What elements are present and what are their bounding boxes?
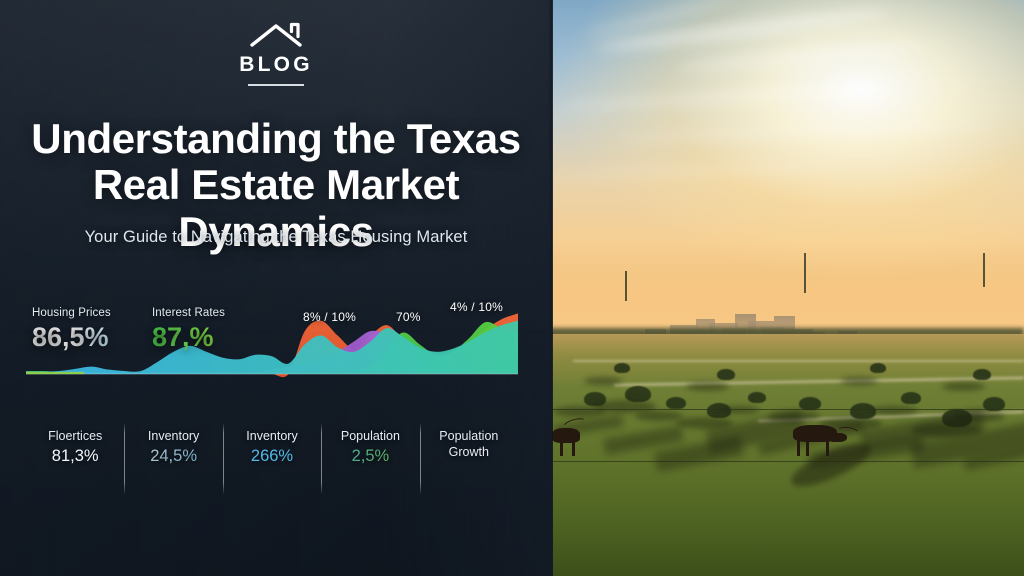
longhorn-cow-leg xyxy=(806,440,809,456)
tree-shadow xyxy=(870,406,918,416)
tree-shadow xyxy=(584,377,622,385)
stat-item: Floertices 81,3% xyxy=(26,425,124,510)
tree xyxy=(666,397,686,409)
stat-label: Inventory xyxy=(225,429,319,445)
chart-annotation: 4% / 10% xyxy=(450,300,503,314)
tree xyxy=(870,363,886,373)
metric-value: 87,% xyxy=(152,323,225,351)
metric-label: Housing Prices xyxy=(32,308,111,320)
stat-item: Population 2,5% xyxy=(321,425,419,510)
brand-label: BLOG xyxy=(0,54,552,75)
stats-row: Floertices 81,3% Inventory 24,5% Invento… xyxy=(26,425,518,510)
utility-tower xyxy=(983,253,985,287)
stat-label: Population xyxy=(323,429,417,445)
tree xyxy=(748,392,766,403)
stat-value: 2,5% xyxy=(323,446,417,467)
utility-tower xyxy=(625,271,627,301)
tree-shadow xyxy=(635,411,683,421)
chart-annotation: 70% xyxy=(396,310,421,324)
stat-label: Population Growth xyxy=(422,429,516,460)
longhorn-cow-leg xyxy=(560,441,563,456)
stat-label: Floertices xyxy=(28,429,122,445)
fence-line xyxy=(553,409,1024,410)
house-roof-icon xyxy=(249,22,303,48)
metric-housing-prices: Housing Prices 86,5% xyxy=(32,308,111,351)
metric-interest-rates: Interest Rates 87,% xyxy=(152,308,225,351)
tree xyxy=(973,369,991,380)
page-subtitle: Your Guide to Navigating the Texas Housi… xyxy=(26,228,526,247)
utility-tower xyxy=(804,253,806,293)
metric-label: Interest Rates xyxy=(152,308,225,320)
fence-line xyxy=(553,461,1024,462)
longhorn-cow-leg xyxy=(572,441,575,456)
brand-block: BLOG xyxy=(0,22,552,86)
road xyxy=(573,360,1024,362)
stat-value: 81,3% xyxy=(28,446,122,467)
stat-item: Population Growth xyxy=(420,425,518,510)
tree-shadow xyxy=(840,377,878,385)
longhorn-cow-leg xyxy=(797,440,800,456)
stat-value: 266% xyxy=(225,446,319,467)
chart-annotation: 8% / 10% xyxy=(303,310,356,324)
stat-label: Inventory xyxy=(126,429,220,445)
tree xyxy=(717,369,735,380)
blog-hero-banner: BLOG Understanding the Texas Real Estate… xyxy=(0,0,1024,576)
chart-overlay-labels: Housing Prices 86,5% Interest Rates 87,%… xyxy=(26,296,518,382)
panel-content: BLOG Understanding the Texas Real Estate… xyxy=(0,0,552,576)
stat-value: 24,5% xyxy=(126,446,220,467)
stat-item: Inventory 24,5% xyxy=(124,425,222,510)
stat-item: Inventory 266% xyxy=(223,425,321,510)
market-area-chart: Housing Prices 86,5% Interest Rates 87,%… xyxy=(26,296,518,382)
brand-underline xyxy=(248,84,304,86)
tree xyxy=(614,363,630,373)
metric-value: 86,5% xyxy=(32,323,111,351)
tree xyxy=(901,392,921,404)
